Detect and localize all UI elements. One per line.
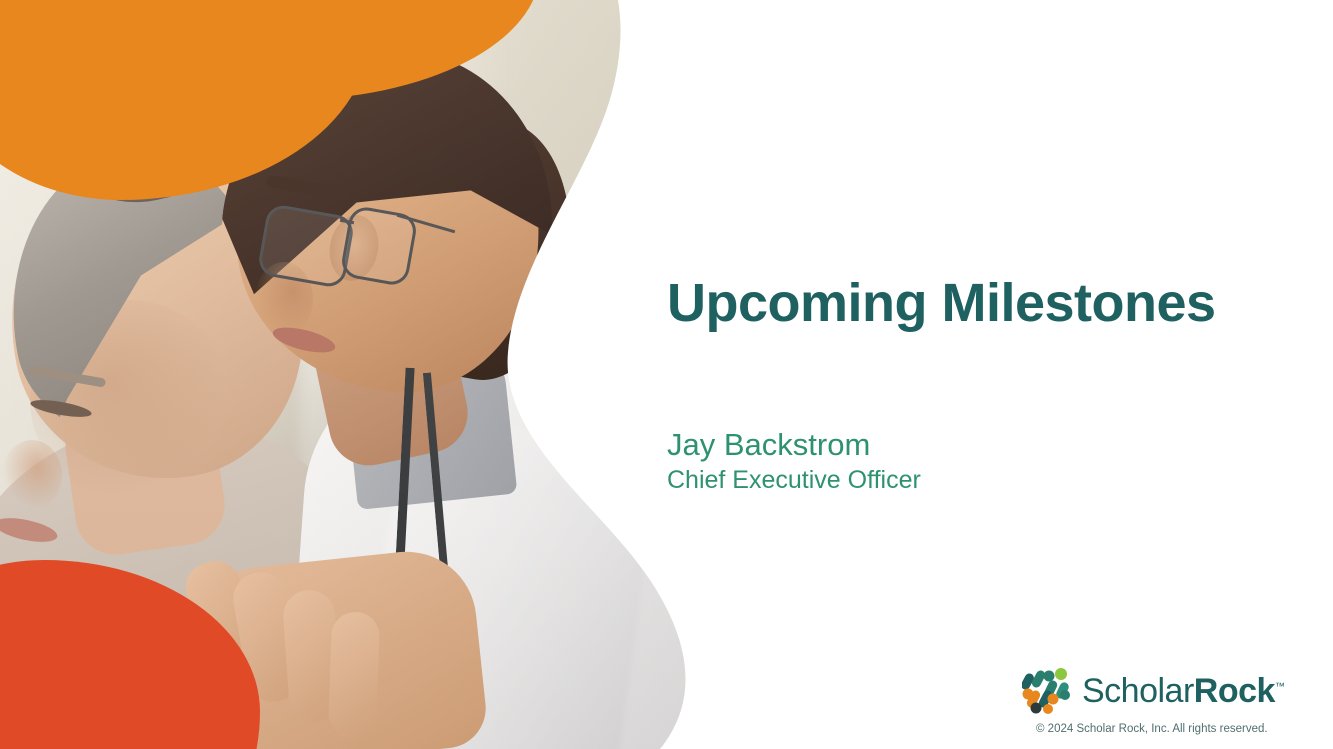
logo-word-scholar: Scholar [1082, 672, 1194, 710]
presentation-slide: Upcoming Milestones Jay Backstrom Chief … [0, 0, 1333, 749]
copyright-notice: © 2024 Scholar Rock, Inc. All rights res… [1036, 723, 1272, 735]
brand-logo-row: ScholarRock™ [1022, 668, 1272, 714]
brand-logo-wordmark: ScholarRock™ [1082, 674, 1284, 708]
page-title: Upcoming Milestones [667, 272, 1216, 334]
presenter-name: Jay Backstrom [667, 427, 870, 463]
scholar-rock-logo-icon [1022, 668, 1074, 714]
hero-photo-panel [0, 0, 700, 749]
presenter-role: Chief Executive Officer [667, 466, 921, 495]
trademark-symbol: ™ [1275, 682, 1285, 693]
logo-word-rock: Rock [1194, 672, 1275, 710]
brand-logo-block: ScholarRock™ © 2024 Scholar Rock, Inc. A… [1022, 668, 1272, 735]
slide-content: Upcoming Milestones Jay Backstrom Chief … [667, 0, 1267, 749]
clinician-eyeglasses-left-lens [256, 203, 355, 289]
patient-finger-little [328, 611, 380, 739]
patient-nose [2, 440, 62, 510]
